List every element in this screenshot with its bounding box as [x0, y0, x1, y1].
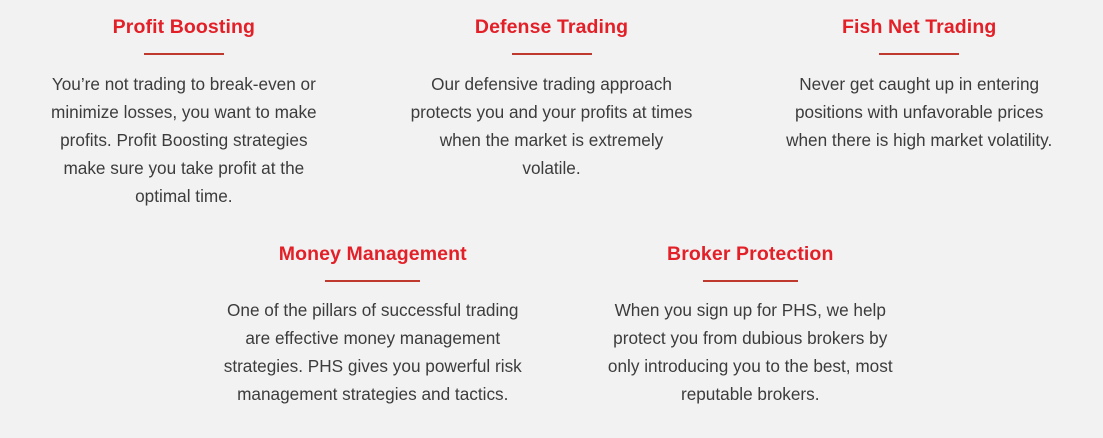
- feature-row-bottom: Money Management One of the pillars of s…: [0, 210, 1103, 408]
- feature-divider: [879, 53, 959, 55]
- feature-divider: [325, 280, 420, 282]
- feature-divider: [512, 53, 592, 55]
- feature-card-broker-protection: Broker Protection When you sign up for P…: [562, 241, 940, 408]
- feature-card-defense-trading: Defense Trading Our defensive trading ap…: [368, 14, 736, 210]
- feature-divider: [703, 280, 798, 282]
- feature-description: You’re not trading to break-even or mini…: [44, 70, 324, 210]
- feature-card-fish-net-trading: Fish Net Trading Never get caught up in …: [735, 14, 1103, 210]
- feature-title: Money Management: [279, 241, 467, 267]
- feature-title: Broker Protection: [667, 241, 833, 267]
- feature-description: One of the pillars of successful trading…: [223, 296, 523, 408]
- feature-card-money-management: Money Management One of the pillars of s…: [184, 241, 562, 408]
- feature-title: Fish Net Trading: [842, 14, 996, 40]
- features-section: Profit Boosting You’re not trading to br…: [0, 0, 1103, 438]
- feature-divider: [144, 53, 224, 55]
- feature-card-profit-boosting: Profit Boosting You’re not trading to br…: [0, 14, 368, 210]
- feature-description: Never get caught up in entering position…: [778, 70, 1060, 154]
- feature-title: Profit Boosting: [113, 14, 255, 40]
- feature-row-top: Profit Boosting You’re not trading to br…: [0, 0, 1103, 210]
- feature-title: Defense Trading: [475, 14, 628, 40]
- feature-description: When you sign up for PHS, we help protec…: [600, 296, 900, 408]
- feature-description: Our defensive trading approach protects …: [409, 70, 694, 182]
